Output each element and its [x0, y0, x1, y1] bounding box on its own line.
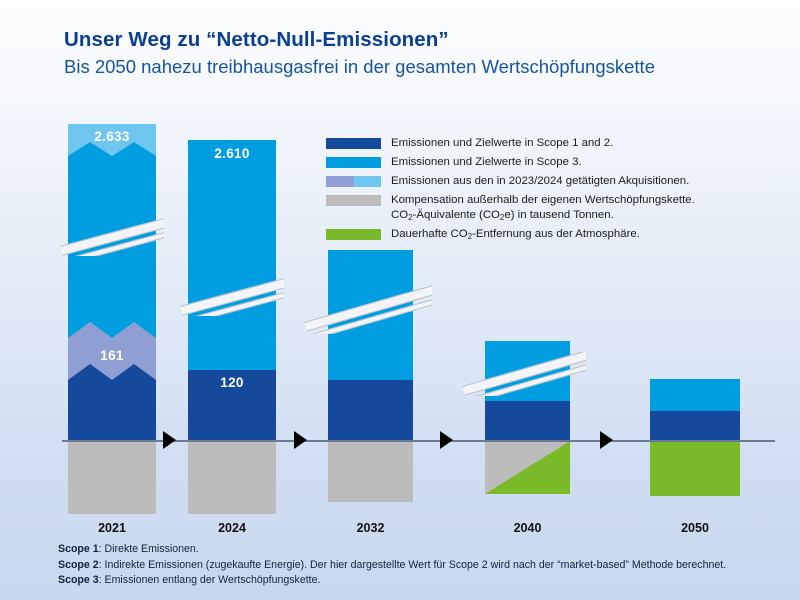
legend: Emissionen und Zielwerte in Scope 1 and … — [326, 136, 756, 246]
bar-2021-top-value: 2.633 — [68, 129, 156, 144]
legend-swatch-compensation — [326, 195, 381, 206]
legend-item-scope3: Emissionen und Zielwerte in Scope 3. — [326, 155, 756, 170]
bar-2032 — [328, 250, 413, 440]
legend-label-compensation: Kompensation außerhalb der eigenen Werts… — [391, 194, 695, 206]
legend-label-scope3: Emissionen und Zielwerte in Scope 3. — [391, 155, 582, 170]
bar-2032-scope12 — [328, 380, 413, 440]
legend-item-removal: Dauerhafte CO2-Entfernung aus der Atmosp… — [326, 227, 756, 242]
legend-label-scope12: Emissionen und Zielwerte in Scope 1 and … — [391, 136, 613, 151]
chart-area: 2.633 161 2.610 120 — [0, 0, 800, 600]
bar-2024: 2.610 120 — [188, 140, 276, 440]
progress-arrow-4 — [600, 431, 613, 449]
bar-2050 — [650, 379, 740, 440]
progress-arrow-3 — [440, 431, 453, 449]
legend-item-acquisitions: Emissionen aus den in 2023/2024 getätigt… — [326, 174, 756, 189]
legend-item-compensation: Kompensation außerhalb der eigenen Werts… — [326, 193, 756, 222]
xaxis-label-2050: 2050 — [650, 521, 740, 535]
bar-2021: 2.633 161 — [68, 124, 156, 440]
legend-swatch-acq-right — [354, 176, 382, 187]
bar-2021-mid-value: 161 — [68, 348, 156, 363]
legend-swatch-removal — [326, 229, 381, 240]
bar-2024-scope3 — [188, 140, 276, 370]
bar-2040-compensation-removal — [485, 441, 570, 494]
footnote-scope3-key: Scope 3 — [58, 574, 99, 586]
bar-2040 — [485, 341, 570, 440]
footnote-scope3: Scope 3: Emissionen entlang der Wertschö… — [58, 573, 788, 589]
footnote-scope1-key: Scope 1 — [58, 543, 99, 555]
footnote-scope2-text: : Indirekte Emissionen (zugekaufte Energ… — [99, 559, 727, 571]
progress-arrow-2 — [294, 431, 307, 449]
footnotes: Scope 1: Direkte Emissionen. Scope 2: In… — [58, 542, 788, 589]
infographic-canvas: Unser Weg zu “Netto-Null-Emissionen” Bis… — [0, 0, 800, 600]
legend-label-acquisitions: Emissionen aus den in 2023/2024 getätigt… — [391, 174, 689, 189]
xaxis-label-2040: 2040 — [485, 521, 570, 535]
bar-2024-top-value: 2.610 — [188, 146, 276, 161]
footnote-scope2: Scope 2: Indirekte Emissionen (zugekauft… — [58, 558, 788, 574]
xaxis-label-2021: 2021 — [68, 521, 156, 535]
bar-2050-scope3 — [650, 379, 740, 411]
xaxis-label-2024: 2024 — [188, 521, 276, 535]
footnote-scope3-text: : Emissionen entlang der Wertschöpfungsk… — [99, 574, 321, 586]
legend-swatch-scope3 — [326, 157, 381, 168]
xaxis-label-2032: 2032 — [328, 521, 413, 535]
legend-label-compensation-unit: CO2-Äquivalente (CO2e) in tausend Tonnen… — [391, 209, 614, 221]
bar-2050-removal — [650, 441, 740, 496]
legend-label-removal: Dauerhafte CO2-Entfernung aus der Atmosp… — [391, 227, 640, 242]
footnote-scope2-key: Scope 2 — [58, 559, 99, 571]
bar-2040-scope12 — [485, 401, 570, 440]
bar-2050-scope12 — [650, 411, 740, 440]
progress-arrow-1 — [163, 431, 176, 449]
footnote-scope1: Scope 1: Direkte Emissionen. — [58, 542, 788, 558]
footnote-scope1-text: : Direkte Emissionen. — [99, 543, 199, 555]
bar-2032-scope3 — [328, 250, 413, 380]
legend-item-scope12: Emissionen und Zielwerte in Scope 1 and … — [326, 136, 756, 151]
legend-swatch-scope12 — [326, 138, 381, 149]
bar-2021-compensation — [68, 441, 156, 514]
bar-2024-compensation — [188, 441, 276, 514]
legend-swatch-acq-left — [326, 176, 354, 187]
bar-2032-compensation — [328, 441, 413, 502]
bar-2040-scope3 — [485, 341, 570, 401]
legend-swatch-acquisitions — [326, 176, 381, 187]
bar-2024-mid-value: 120 — [188, 375, 276, 390]
